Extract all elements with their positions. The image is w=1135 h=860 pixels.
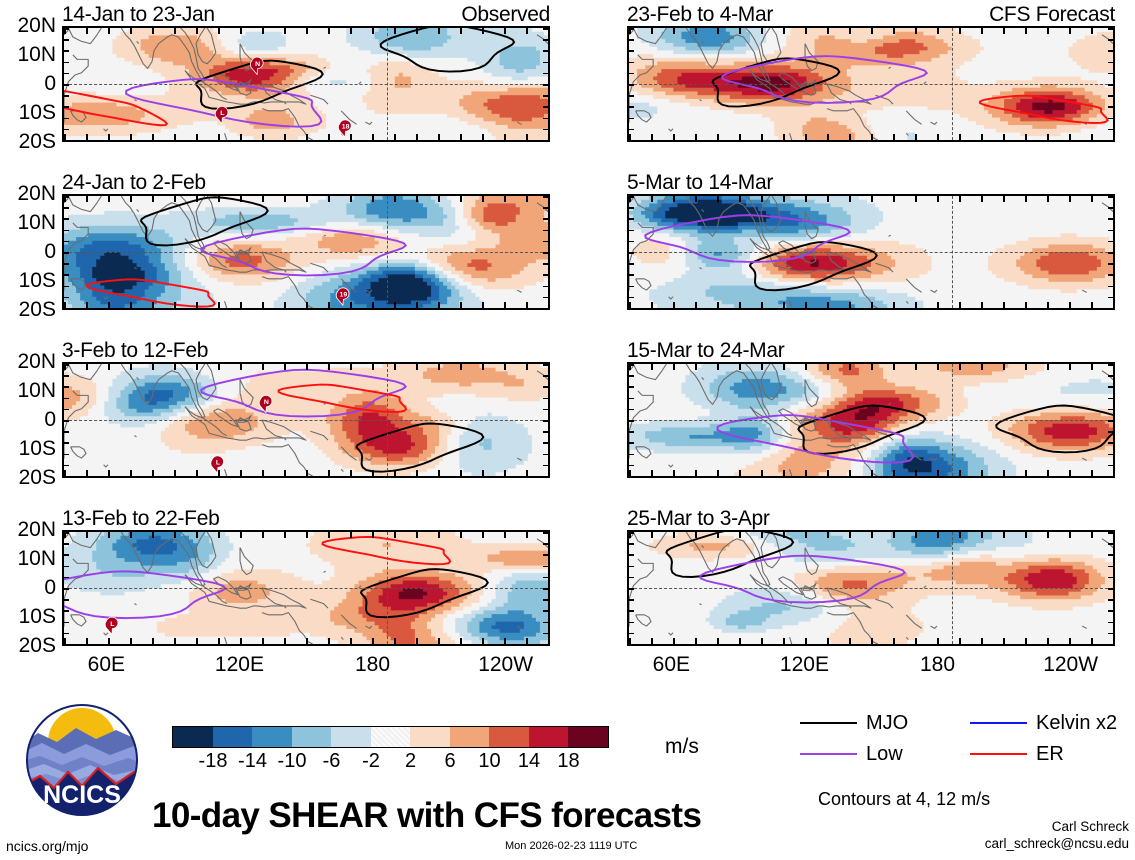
panel-fcs-2: 5-Mar to 14-Mar [627,172,1115,310]
tick [783,134,785,140]
tick [893,134,895,140]
tick [1025,134,1027,140]
svg-text:L: L [220,110,224,117]
tick [174,638,176,644]
tick [64,241,69,243]
tick [893,638,895,644]
panel-fcs-4: 25-Mar to 3-Apr [627,508,1115,646]
tick [1025,196,1027,202]
tick [827,134,829,140]
tick [64,476,69,478]
tick [262,364,264,370]
tick [152,302,154,308]
tick [543,62,548,64]
dateline-180 [952,28,953,140]
tick [1108,196,1113,198]
lat-tick-label: 20S [19,131,56,152]
tick [394,134,396,140]
tick [64,62,69,64]
tick [526,638,528,644]
equator-line [64,252,548,253]
timestamp: Mon 2026-02-23 1119 UTC [505,840,637,852]
tick [543,442,548,444]
lon-tick-label: 180 [920,652,955,678]
tick [893,470,895,476]
tick [629,554,634,556]
legend-row-1: MJO Kelvin x2 [800,707,1130,738]
tick [64,599,69,601]
tick [1108,543,1113,545]
tick [1108,566,1113,568]
colorbar-units-label: m/s [665,735,699,759]
dateline-180 [952,196,953,308]
colorbar-tick--14: -14 [238,749,267,773]
tick [937,134,939,140]
tick [240,638,242,644]
tick [1069,638,1071,644]
lat-tick-label: 10S [19,270,56,291]
tick [849,364,851,370]
tick [629,476,634,478]
tick [629,465,634,467]
tick [438,302,440,308]
tick [1108,50,1113,52]
tick [761,470,763,476]
tick [543,50,548,52]
tick [460,134,462,140]
tick [761,532,763,538]
colorbar-swatch-0 [173,727,213,747]
tick [761,302,763,308]
tick [306,532,308,538]
equator-line [629,420,1113,421]
tick [849,302,851,308]
tick [350,28,352,34]
tick [959,364,961,370]
tick [1108,431,1113,433]
tick [629,39,634,41]
tick [460,470,462,476]
tick [1113,532,1115,538]
tick [152,638,154,644]
tick [1025,302,1027,308]
tick [218,134,220,140]
tick [761,196,763,202]
tick [284,28,286,34]
tick [651,364,653,370]
tick [174,134,176,140]
tick [805,470,807,476]
tick [284,638,286,644]
lon-axis-right: 60E120E180120W [627,652,1115,680]
legend-label-er: ER [1036,744,1064,764]
tick [1108,644,1113,646]
tick [629,577,634,579]
map-plot-obs-4: L [62,530,550,646]
tick [629,297,634,299]
lat-tick-label: 0 [44,409,56,430]
tick [629,398,634,400]
tick [673,364,675,370]
tick [240,28,242,34]
tick [543,364,548,366]
tick [893,302,895,308]
page-title: 10-day SHEAR with CFS forecasts [152,796,701,836]
lat-axis-row-3: 20N10N010S20S [0,362,58,478]
tick [543,622,548,624]
colorbar-swatch-5 [371,727,411,747]
tick [871,302,873,308]
tick [64,129,69,131]
tick [1003,532,1005,538]
tick [1108,106,1113,108]
tick [761,364,763,370]
credit-email[interactable]: carl_schreck@ncsu.edu [985,835,1129,852]
tick [629,543,634,545]
tick [937,302,939,308]
colorbar-swatch-6 [410,727,450,747]
tick [629,218,634,220]
tick [416,470,418,476]
tick [827,364,829,370]
tick [64,286,69,288]
tick [1113,638,1115,644]
tick [174,28,176,34]
tick [695,638,697,644]
tick [629,118,634,120]
tick [1108,62,1113,64]
tick [64,95,69,97]
tick [1108,599,1113,601]
tick [86,302,88,308]
tick [350,134,352,140]
tick [306,470,308,476]
column-header-right: CFS Forecast [989,4,1115,26]
lat-axis-row-1: 20N10N010S20S [0,26,58,142]
tick [152,28,154,34]
tick [394,532,396,538]
tick [805,196,807,202]
tick [849,28,851,34]
lat-tick-label: 20S [19,635,56,656]
tick [64,454,69,456]
tick [959,532,961,538]
colorbar-tick--10: -10 [278,749,307,773]
tick [783,638,785,644]
tick [416,28,418,34]
tick [783,196,785,202]
tick [1108,73,1113,75]
tick [108,134,110,140]
tick [350,302,352,308]
tick [284,302,286,308]
tick [504,196,506,202]
tick [629,566,634,568]
tick [849,470,851,476]
tick [64,644,69,646]
tick [981,134,983,140]
tick [783,28,785,34]
tick [959,470,961,476]
tick [543,375,548,377]
tick [64,420,69,422]
tick [543,297,548,299]
tick [1108,633,1113,635]
tick [394,470,396,476]
tick [1069,134,1071,140]
map-plot-fcs-4 [627,530,1115,646]
tick [871,470,873,476]
tick [673,302,675,308]
tick [651,302,653,308]
tick [240,470,242,476]
tick [1047,28,1049,34]
tick [543,39,548,41]
tick [1047,134,1049,140]
tick [827,470,829,476]
tick [1091,638,1093,644]
tick [629,431,634,433]
legend-label-mjo: MJO [866,713,908,733]
tick [64,588,69,590]
tick [629,252,634,254]
tick [174,470,176,476]
tick [328,302,330,308]
lat-tick-label: 10S [19,438,56,459]
lat-tick-label: 20N [17,351,56,372]
panel-title-fcs-2: 5-Mar to 14-Mar [627,172,773,194]
tick [130,196,132,202]
tick [543,230,548,232]
tick [196,28,198,34]
tick [174,532,176,538]
tick [504,532,506,538]
tick [543,308,548,310]
lon-tick-label: 60E [88,652,125,678]
tick [504,28,506,34]
colorbar-tick-10: 10 [478,749,500,773]
lon-axis-left: 60E120E180120W [62,652,550,680]
tick [1108,364,1113,366]
tick [1003,196,1005,202]
tick [543,218,548,220]
credit-name: Carl Schreck [985,818,1129,835]
tick [783,532,785,538]
panel-fcs-3: 15-Mar to 24-Mar [627,340,1115,478]
tick [739,302,741,308]
tick [460,638,462,644]
lat-tick-label: 20S [19,467,56,488]
panel-title-obs-1: 14-Jan to 23-Jan [62,4,215,26]
tick [416,638,418,644]
tick [783,470,785,476]
tick [543,476,548,478]
tick [543,118,548,120]
tick [1025,638,1027,644]
tick [482,302,484,308]
tick [981,364,983,370]
tick [673,470,675,476]
tick [372,638,374,644]
tick [543,454,548,456]
tick [651,638,653,644]
tick [849,532,851,538]
tick [438,196,440,202]
tick [196,134,198,140]
tick [350,470,352,476]
colorbar-swatch-7 [450,727,490,747]
tick [543,532,548,534]
legend-item-er: ER [970,744,1064,764]
tick [460,532,462,538]
tick [1108,297,1113,299]
tick [1108,554,1113,556]
tick [372,470,374,476]
tick [893,196,895,202]
tick [629,28,634,30]
tick [937,196,939,202]
tick [262,470,264,476]
tick [1108,386,1113,388]
tick [915,134,917,140]
site-link[interactable]: ncics.org/mjo [6,838,88,854]
tick [673,532,675,538]
tick [871,532,873,538]
colorbar-swatch-8 [489,727,529,747]
tick [629,454,634,456]
tick [629,386,634,388]
tick [1108,375,1113,377]
tick [482,470,484,476]
tick [64,566,69,568]
tick [548,302,550,308]
logo-text: NCICS [43,781,121,809]
legend-item-mjo: MJO [800,713,970,733]
er-line-icon [970,753,1027,755]
mjo-line-icon [800,722,857,724]
tick [64,398,69,400]
tick [64,375,69,377]
tick [372,196,374,202]
map-plot-obs-1: NL18 [62,26,550,142]
tick [543,129,548,131]
tick [86,196,88,202]
colorbar-swatches [172,726,609,748]
tick [629,622,634,624]
tick [629,50,634,52]
equator-line [64,588,548,589]
colorbar-tick-labels: -18-14-10-6-226101418 [172,749,609,775]
tick [64,118,69,120]
lon-tick-label: 120W [478,652,533,678]
tick [543,106,548,108]
panel-fcs-1: 23-Feb to 4-MarCFS Forecast [627,4,1115,142]
tick [482,28,484,34]
tick [543,566,548,568]
tick [174,196,176,202]
tick [1108,252,1113,254]
tick [218,470,220,476]
tick [416,532,418,538]
tick [717,364,719,370]
tick [306,28,308,34]
tick [328,532,330,538]
tick [130,364,132,370]
colorbar-tick--2: -2 [362,749,380,773]
tick [543,398,548,400]
tick [416,196,418,202]
tick [240,196,242,202]
tick [108,196,110,202]
tick [218,364,220,370]
tick [543,207,548,209]
dateline-180 [387,532,388,644]
tick [827,638,829,644]
tick [543,633,548,635]
tick [482,532,484,538]
tick [306,638,308,644]
tick [284,364,286,370]
tick [1108,409,1113,411]
tick [695,134,697,140]
tick [504,302,506,308]
tick [1113,134,1115,140]
tick [629,644,634,646]
tick [504,638,506,644]
colorbar-swatch-1 [213,727,253,747]
legend-item-low: Low [800,744,970,764]
tick [739,470,741,476]
tick [1047,364,1049,370]
tick [438,470,440,476]
tick [1025,470,1027,476]
kelvin-line-icon [970,722,1027,724]
dateline-180 [387,28,388,140]
tick [284,532,286,538]
tick [673,134,675,140]
tick [372,134,374,140]
dateline-180 [387,364,388,476]
lat-tick-label: 10S [19,102,56,123]
map-plot-obs-3: NL [62,362,550,478]
tick [629,274,634,276]
tick [1108,420,1113,422]
tick [328,196,330,202]
tick [1069,364,1071,370]
tick [695,196,697,202]
equator-line [629,84,1113,85]
tick [108,532,110,538]
tick [548,470,550,476]
tick [959,196,961,202]
tick [64,73,69,75]
tick [64,28,69,30]
tick [64,386,69,388]
tick [1047,470,1049,476]
lat-tick-label: 0 [44,577,56,598]
tick [629,532,634,534]
tick [629,442,634,444]
tick [871,196,873,202]
tick [629,106,634,108]
tick [64,532,69,534]
tick [959,302,961,308]
tick [981,638,983,644]
tick [1091,196,1093,202]
tick [1108,84,1113,86]
tick [504,134,506,140]
tick [673,196,675,202]
